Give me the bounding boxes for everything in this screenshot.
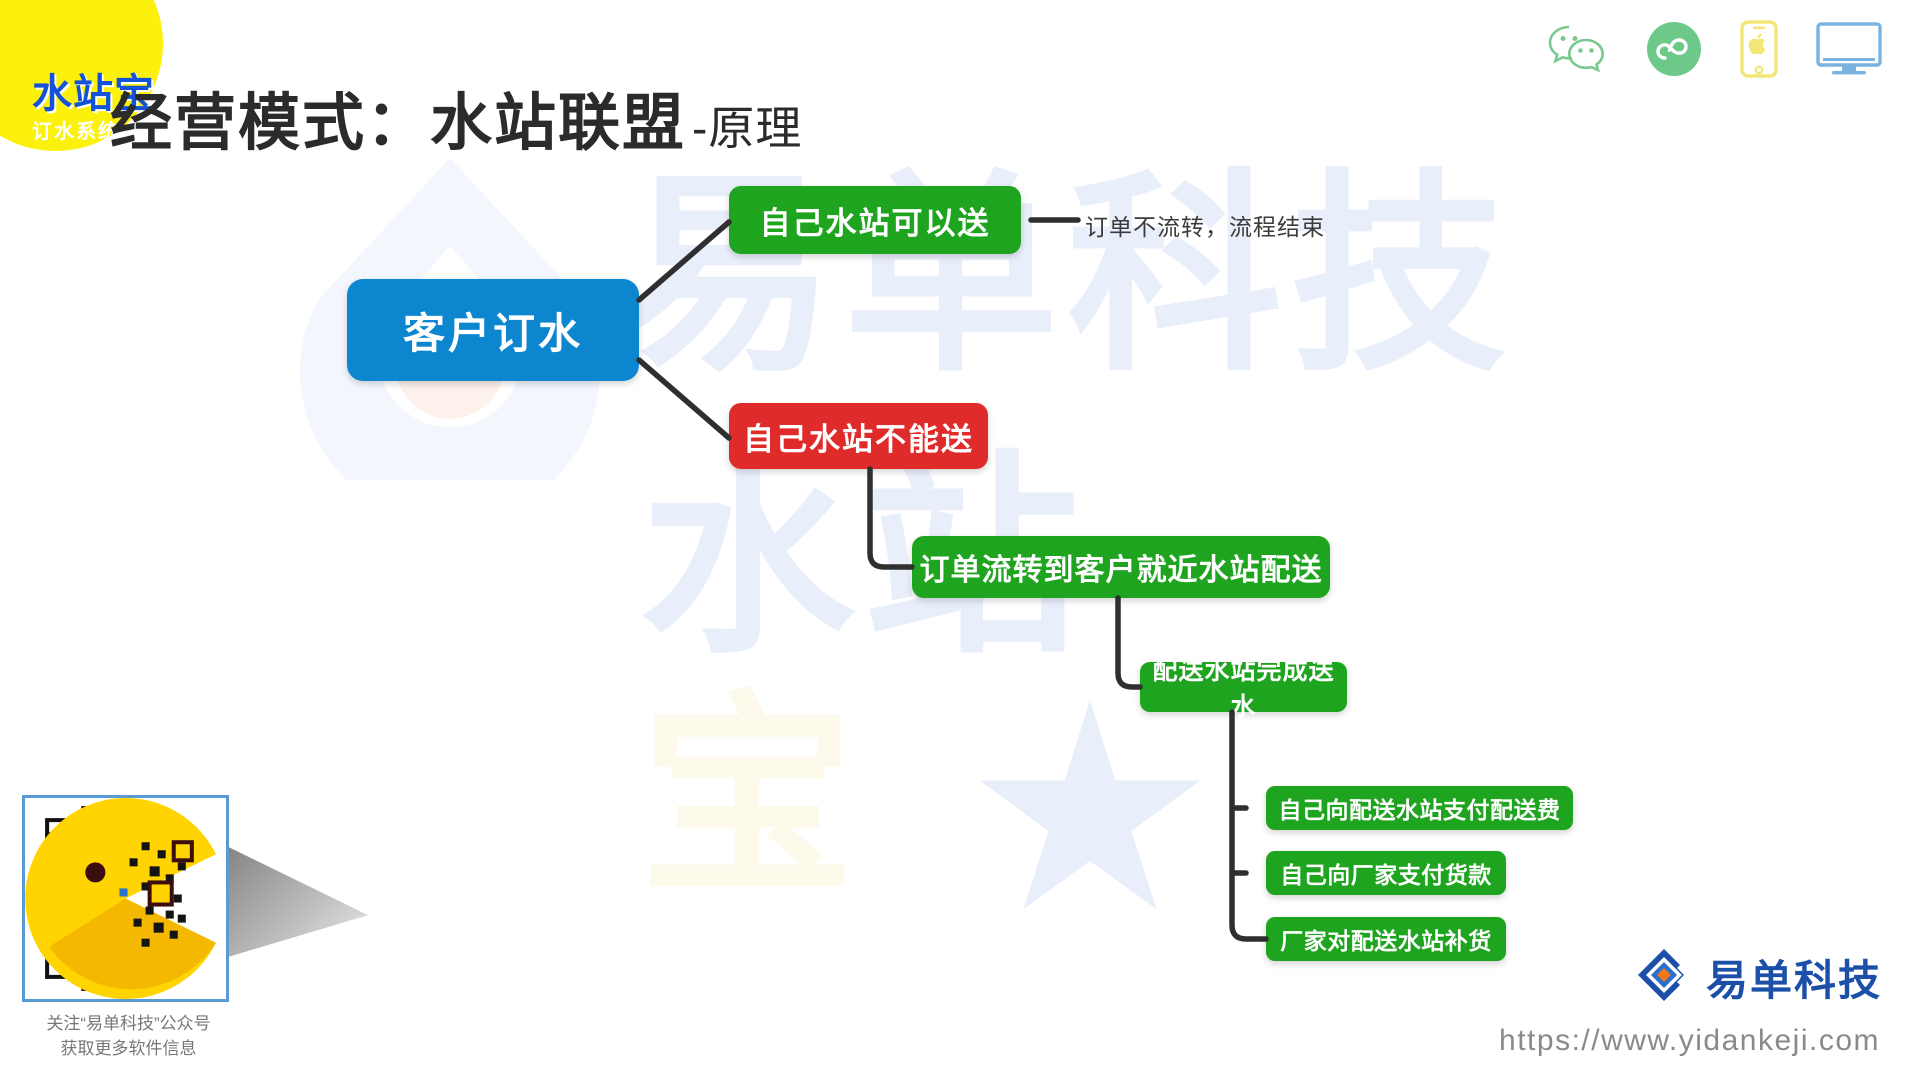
connector-flow-to-done — [1118, 598, 1140, 687]
qr-caption-line1: 关注“易单科技”公众号 — [22, 1012, 235, 1037]
platform-icon-row — [1546, 20, 1882, 78]
qr-block: 关注“易单科技”公众号 获取更多软件信息 — [22, 795, 235, 1061]
yidan-diamond-icon — [1636, 947, 1692, 1008]
slide-canvas: 易单科技 水站 宝 水站宝 订水系统 经营模式：水站联盟-原理 — [0, 0, 1920, 1080]
miniprogram-icon[interactable] — [1646, 21, 1702, 77]
iphone-icon[interactable] — [1740, 20, 1778, 78]
wechat-icon[interactable] — [1546, 23, 1608, 75]
connector-no-to-flow — [870, 469, 912, 567]
connector-root-to-yes — [639, 222, 729, 300]
brand-url[interactable]: https://www.yidankeji.com — [1499, 1024, 1880, 1058]
connector-root-to-no — [639, 360, 729, 438]
qr-caption-line2: 获取更多软件信息 — [22, 1037, 235, 1062]
brand-logo[interactable]: 易单科技 — [1636, 947, 1882, 1008]
page-title-sub: -原理 — [692, 102, 802, 154]
page-title: 经营模式：水站联盟-原理 — [110, 72, 802, 162]
connector-done-spine — [1232, 712, 1266, 939]
qr-code[interactable] — [22, 795, 229, 1002]
page-title-main: 经营模式：水站联盟 — [110, 89, 686, 158]
end-note-label: 订单不流转，流程结束 — [1085, 208, 1325, 242]
desktop-icon[interactable] — [1816, 22, 1882, 76]
qr-pacman-icon — [25, 798, 226, 999]
qr-caption: 关注“易单科技”公众号 获取更多软件信息 — [22, 1012, 235, 1061]
brand-name: 易单科技 — [1706, 947, 1882, 1008]
